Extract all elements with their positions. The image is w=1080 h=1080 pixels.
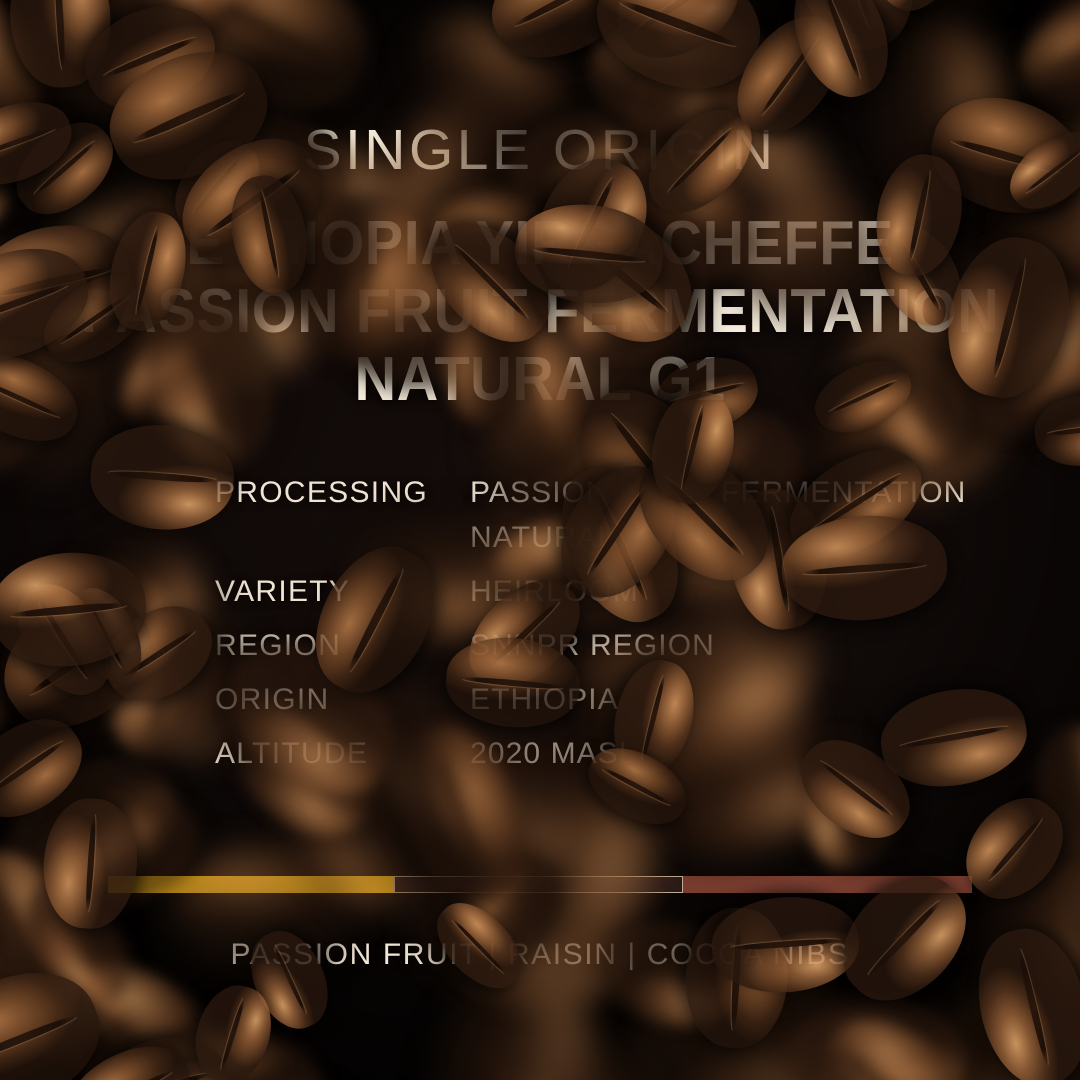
spec-label-processing: PROCESSING [215, 470, 470, 515]
product-label-card: SINGLE ORIGIN ETHIOPIA YIRGACHEFFE PASSI… [0, 0, 1080, 1080]
